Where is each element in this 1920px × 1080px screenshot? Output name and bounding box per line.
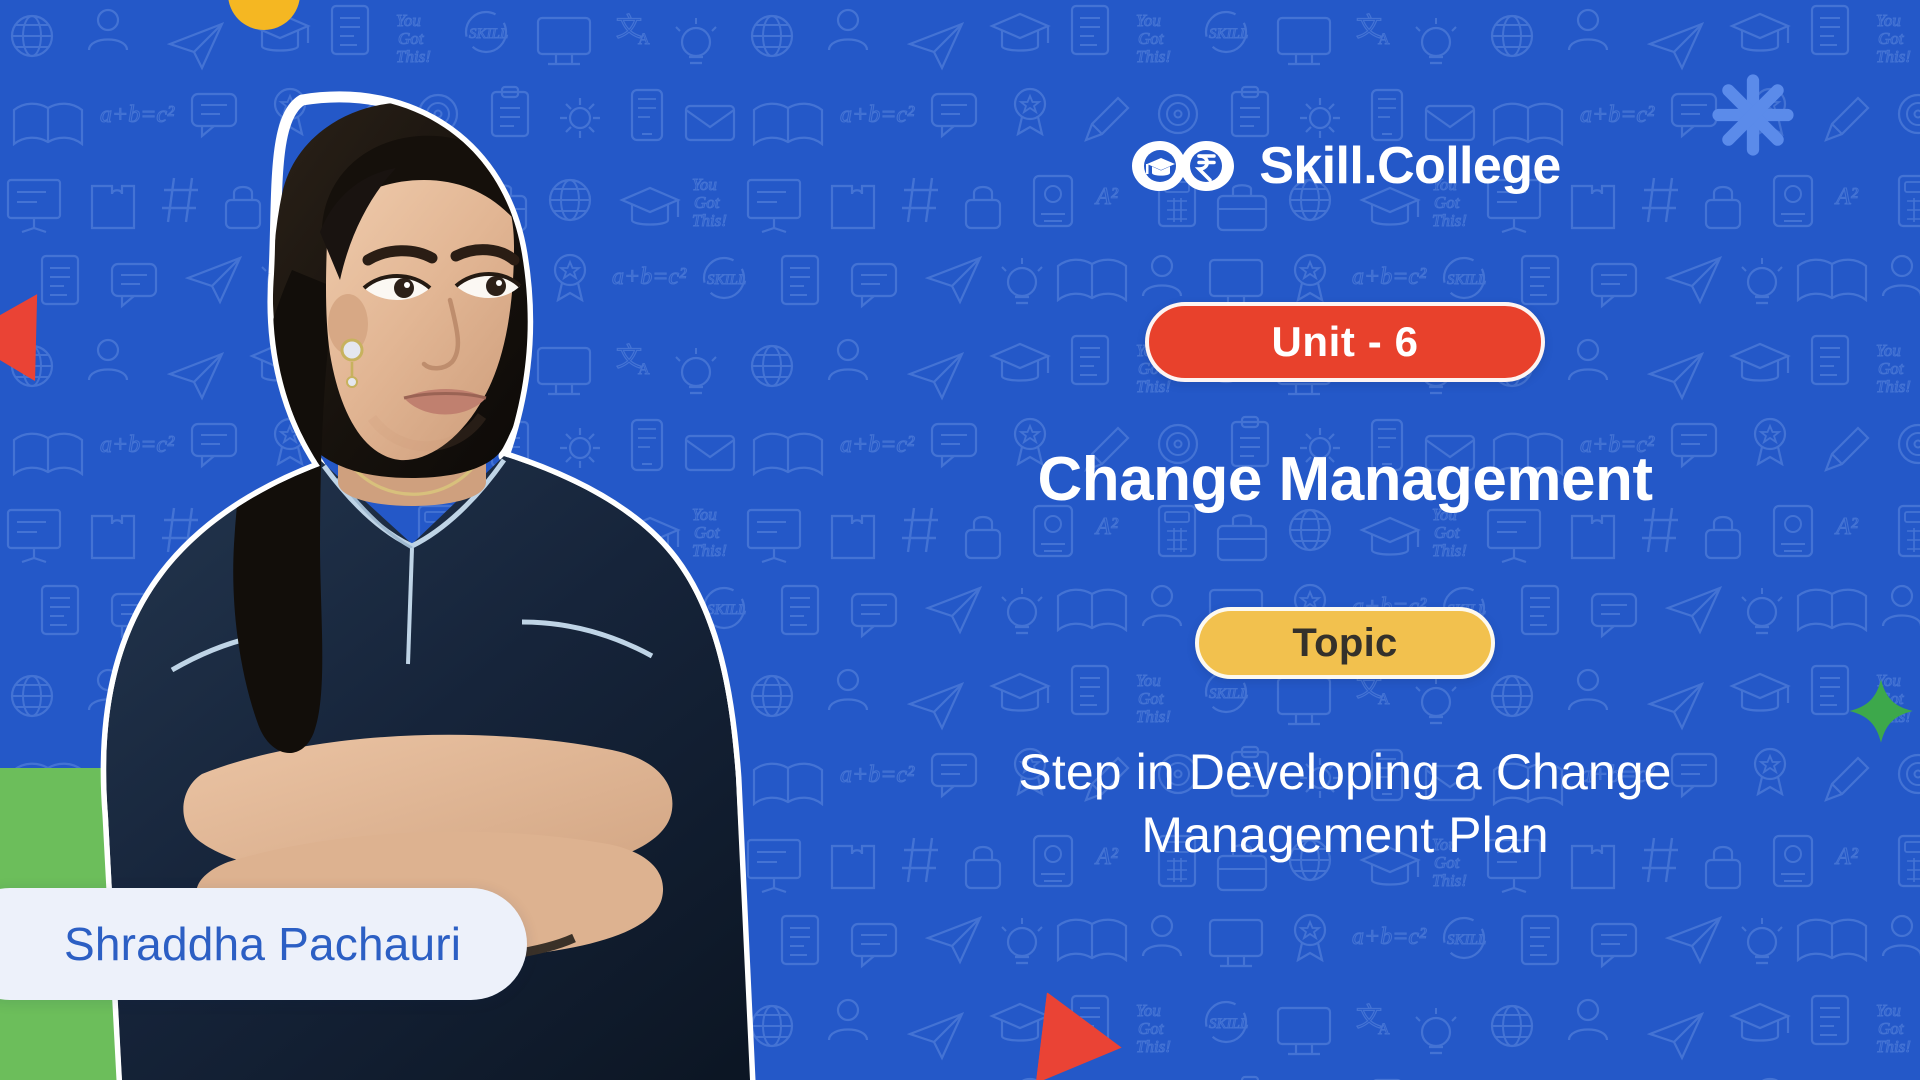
yellow-circle-decoration bbox=[228, 0, 300, 30]
course-title-slide: a+b=c² A² You Got This! bbox=[0, 0, 1920, 1080]
brand-lockup: Skill.College bbox=[1129, 135, 1560, 197]
topic-badge: Topic bbox=[1195, 607, 1495, 679]
presenter-name: Shraddha Pachauri bbox=[64, 917, 461, 971]
unit-badge: Unit - 6 bbox=[1145, 302, 1545, 382]
infinity-graduation-rupee-icon bbox=[1129, 135, 1237, 197]
unit-badge-label: Unit - 6 bbox=[1271, 318, 1418, 366]
slide-content-column: Skill.College Unit - 6 Change Management… bbox=[770, 0, 1920, 1080]
topic-title: Step in Developing a Change Management P… bbox=[905, 741, 1785, 867]
unit-title: Change Management bbox=[1037, 444, 1652, 515]
presenter-name-pill: Shraddha Pachauri bbox=[0, 888, 527, 1000]
topic-badge-label: Topic bbox=[1292, 621, 1397, 666]
brand-name: Skill.College bbox=[1259, 136, 1560, 196]
